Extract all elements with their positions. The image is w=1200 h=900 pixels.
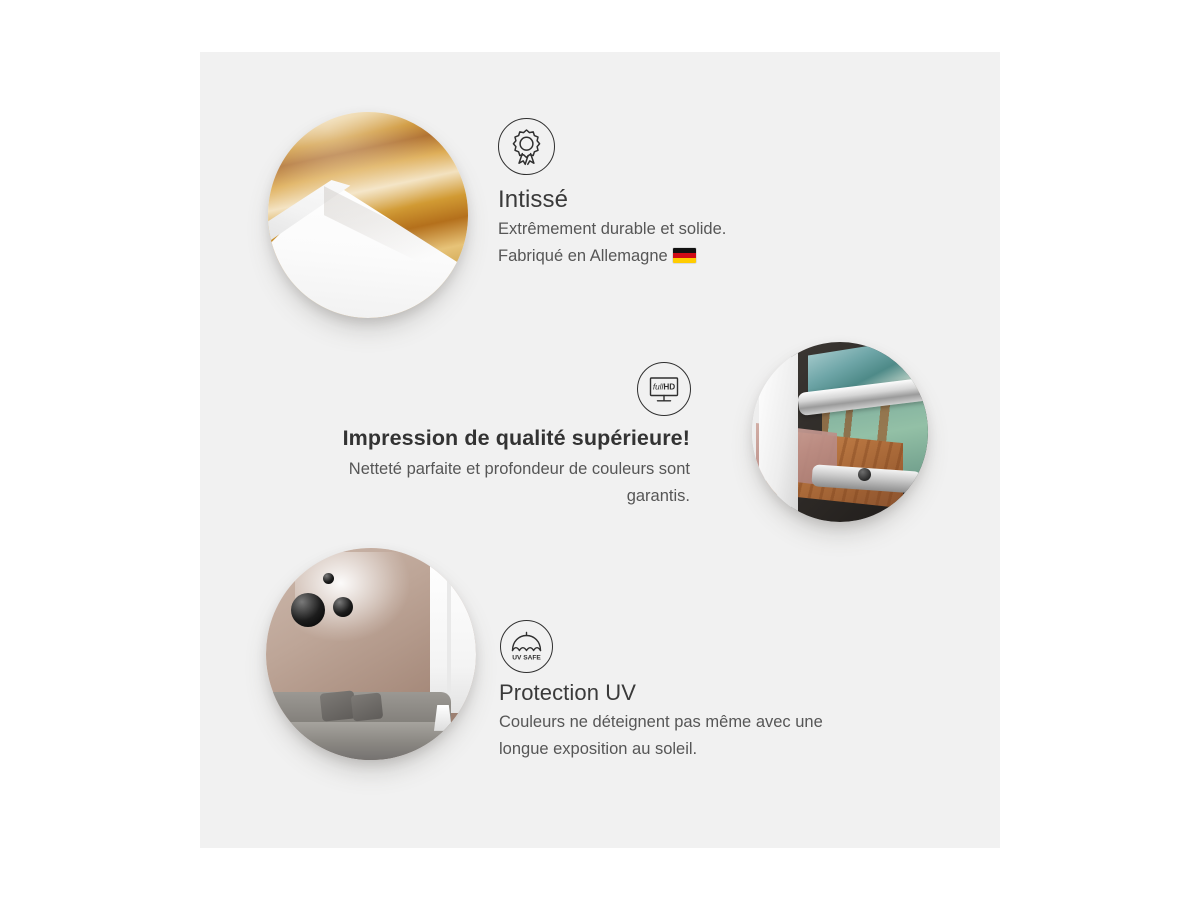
feature-description-protection-uv: Couleurs ne déteignent pas même avec une… xyxy=(499,709,823,763)
feature-block-protection-uv: UV SAFE Protection UV Couleurs ne déteig… xyxy=(0,0,1200,820)
product-feature-infographic: Intissé Extrêmement durable et solide. F… xyxy=(0,0,1200,900)
desc-line-2: longue exposition au soleil. xyxy=(499,736,823,763)
uv-safe-umbrella-icon: UV SAFE xyxy=(500,620,553,673)
feature-title-protection-uv: Protection UV xyxy=(499,680,636,706)
product-photo-interior-mural xyxy=(266,548,476,760)
uv-safe-label: UV SAFE xyxy=(512,654,541,661)
desc-line-1: Couleurs ne déteignent pas même avec une xyxy=(499,709,823,736)
